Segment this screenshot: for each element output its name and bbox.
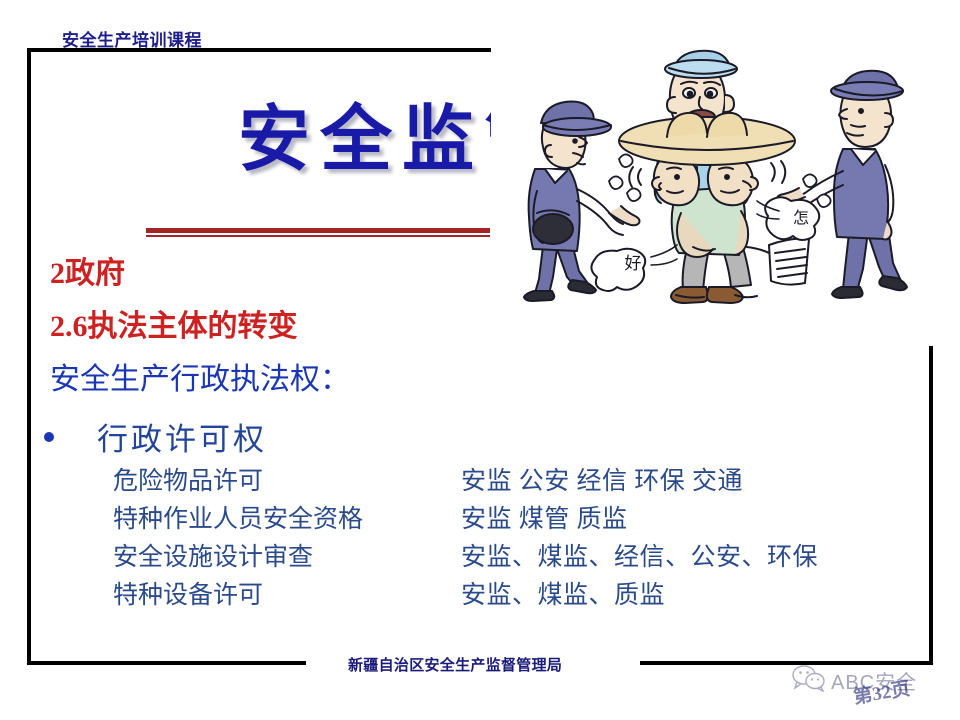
table-row: 特种作业人员安全资格 安监 煤管 质监 — [113, 506, 818, 544]
wechat-icon — [792, 664, 826, 697]
permission-agency-label: 安监 煤管 质监 — [461, 506, 818, 544]
speech-bubble-right-text: 怎 — [793, 209, 809, 227]
permission-agency-label: 安监 公安 经信 环保 交通 — [461, 468, 818, 506]
permission-item-label: 特种作业人员安全资格 — [113, 506, 461, 544]
table-row: 危险物品许可 安监 公安 经信 环保 交通 — [113, 468, 818, 506]
bullet-dot-icon — [44, 432, 54, 442]
bullet-item-administrative-license: 行政许可权 — [44, 414, 267, 459]
table-row: 安全设施设计审查 安监、煤监、经信、公安、环保 — [113, 544, 818, 582]
inspection-cartoon-image: 好 怎 — [491, 41, 951, 346]
permission-agency-label: 安监、煤监、质监 — [461, 582, 818, 620]
frame-border-right — [929, 341, 933, 665]
course-header-title: 安全生产培训课程 — [62, 26, 202, 51]
footer-organization-name: 新疆自治区安全生产监督管理局 — [348, 654, 562, 675]
permission-item-label: 特种设备许可 — [113, 582, 461, 620]
bullet-item-label: 行政许可权 — [97, 414, 267, 459]
title-rule-thick-line — [146, 228, 490, 233]
title-underline-rule — [146, 228, 490, 237]
table-row: 特种设备许可 安监、煤监、质监 — [113, 582, 818, 620]
subheading-enforcement-power: 安全生产行政执法权： — [50, 354, 350, 398]
section-heading-government: 2政府 — [50, 248, 125, 292]
permission-item-label: 危险物品许可 — [113, 468, 461, 506]
permission-item-label: 安全设施设计审查 — [113, 544, 461, 582]
permission-agency-label: 安监、煤监、经信、公安、环保 — [461, 544, 818, 582]
section-heading-enforcement-subject-change: 2.6执法主体的转变 — [50, 301, 298, 345]
permission-table-body: 危险物品许可 安监 公安 经信 环保 交通 特种作业人员安全资格 安监 煤管 质… — [113, 468, 818, 620]
frame-border-left — [27, 48, 31, 665]
speech-bubble-left-text: 好 — [625, 254, 642, 273]
frame-border-bottom-left — [27, 661, 306, 665]
title-rule-thin-line — [146, 235, 490, 237]
permission-authority-table: 危险物品许可 安监 公安 经信 环保 交通 特种作业人员安全资格 安监 煤管 质… — [113, 468, 818, 620]
